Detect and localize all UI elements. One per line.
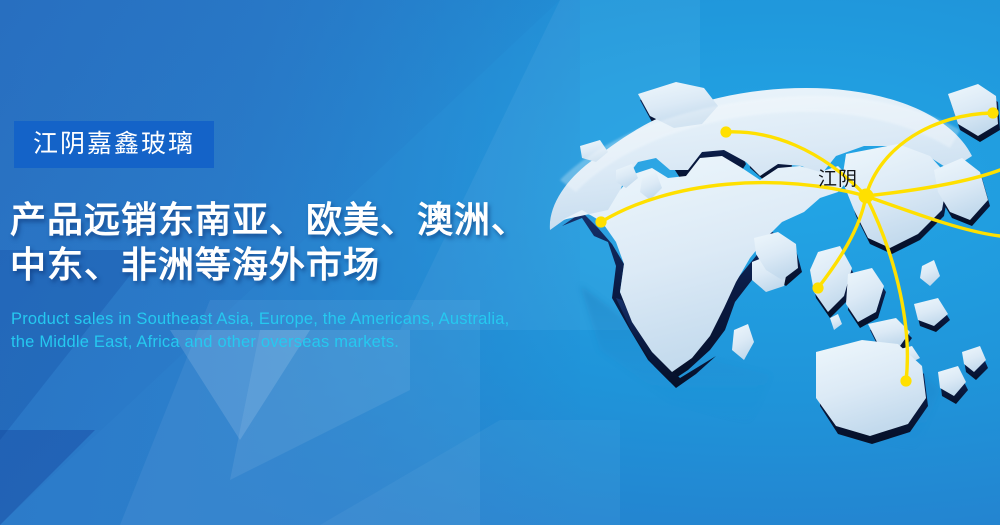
node-europe-north bbox=[720, 126, 731, 137]
world-map-graphic bbox=[520, 30, 1000, 500]
subtitle: Product sales in Southeast Asia, Europe,… bbox=[11, 308, 509, 354]
headline: 产品远销东南亚、欧美、澳洲、 中东、非洲等海外市场 bbox=[10, 198, 528, 288]
subtitle-line-2: the Middle East, Africa and other overse… bbox=[11, 331, 509, 354]
node-northeast-asia bbox=[987, 107, 998, 118]
company-name-badge: 江阴嘉鑫玻璃 bbox=[14, 121, 214, 168]
node-southeast-asia bbox=[812, 282, 823, 293]
subtitle-line-1: Product sales in Southeast Asia, Europe,… bbox=[11, 308, 509, 331]
headline-line-1: 产品远销东南亚、欧美、澳洲、 bbox=[10, 198, 528, 243]
map-hub-label: 江阴 bbox=[818, 164, 858, 191]
node-australia bbox=[900, 375, 911, 386]
promo-banner: 江阴 江阴嘉鑫玻璃 产品远销东南亚、欧美、澳洲、 中东、非洲等海外市场 Prod… bbox=[0, 0, 1000, 525]
hub-node-jiangyin bbox=[859, 189, 874, 204]
node-atlantic-west bbox=[595, 216, 606, 227]
headline-line-2: 中东、非洲等海外市场 bbox=[10, 243, 528, 288]
